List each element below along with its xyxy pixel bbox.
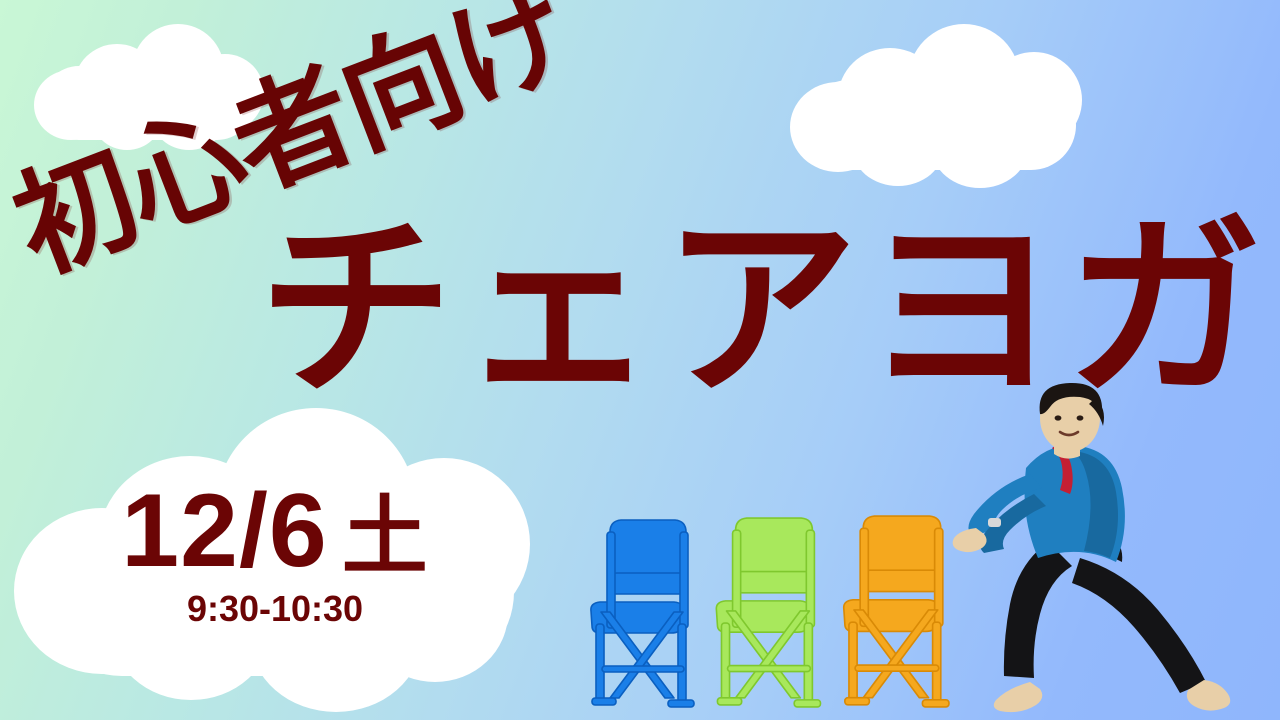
event-time-range: 9:30-10:30 <box>40 588 510 630</box>
person-eye <box>1077 415 1084 420</box>
cloud-puff <box>34 70 108 140</box>
cloud-puff <box>838 48 942 148</box>
date-weekday: 土 <box>342 489 429 585</box>
date-month-day: 12/6 <box>121 473 327 589</box>
cloud-top-right <box>790 18 1090 190</box>
folding-chair-blue <box>588 516 708 712</box>
instructor-lunge-pose <box>930 382 1260 714</box>
person-back-leg <box>1072 558 1206 693</box>
cloud-puff <box>908 24 1020 136</box>
folding-chair-green <box>713 514 835 712</box>
person-front-leg <box>1004 542 1072 678</box>
cloud-puff <box>986 52 1082 148</box>
person-eye <box>1055 415 1062 420</box>
person-front-foot <box>994 682 1043 712</box>
cloud-puff <box>852 108 944 186</box>
poster-canvas: 初心者向け チェアヨガ 12/6土 9:30-10:30 <box>0 0 1280 720</box>
date-block: 12/6土 9:30-10:30 <box>40 478 510 630</box>
cloud-base <box>804 80 1076 170</box>
date-line: 12/6土 <box>40 478 510 584</box>
person-watch <box>988 518 1001 527</box>
page-title: チェアヨガ <box>258 212 1268 408</box>
cloud-puff <box>932 108 1028 188</box>
cloud-puff <box>790 82 886 172</box>
